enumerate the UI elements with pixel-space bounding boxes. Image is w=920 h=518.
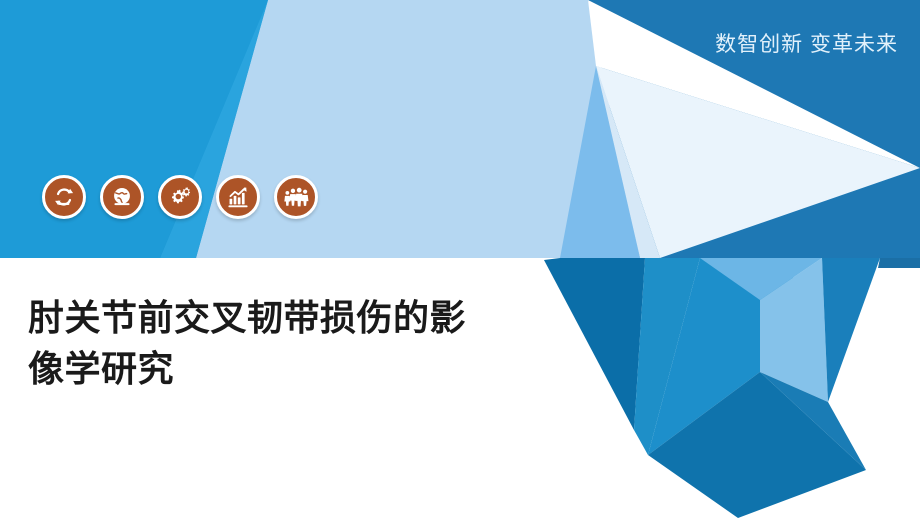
icon-badge-row bbox=[42, 175, 318, 219]
shape-lower-navy-left bbox=[544, 258, 645, 430]
slide-title: 肘关节前交叉韧带损伤的影 像学研究 bbox=[28, 292, 548, 394]
globe-icon[interactable] bbox=[100, 175, 144, 219]
shape-lower-right-deep bbox=[822, 258, 880, 402]
presentation-title-slide: 数智创新 变革未来 bbox=[0, 0, 920, 518]
shape-right-strip bbox=[878, 258, 920, 268]
bar-chart-icon[interactable] bbox=[216, 175, 260, 219]
team-people-icon[interactable] bbox=[274, 175, 318, 219]
slide-tagline: 数智创新 变革未来 bbox=[715, 28, 898, 58]
geometric-background-artwork bbox=[0, 0, 920, 518]
slide-title-line-1: 肘关节前交叉韧带损伤的影 bbox=[28, 292, 548, 343]
slide-title-line-2: 像学研究 bbox=[28, 343, 548, 394]
gears-icon[interactable] bbox=[158, 175, 202, 219]
recycle-arrows-icon[interactable] bbox=[42, 175, 86, 219]
